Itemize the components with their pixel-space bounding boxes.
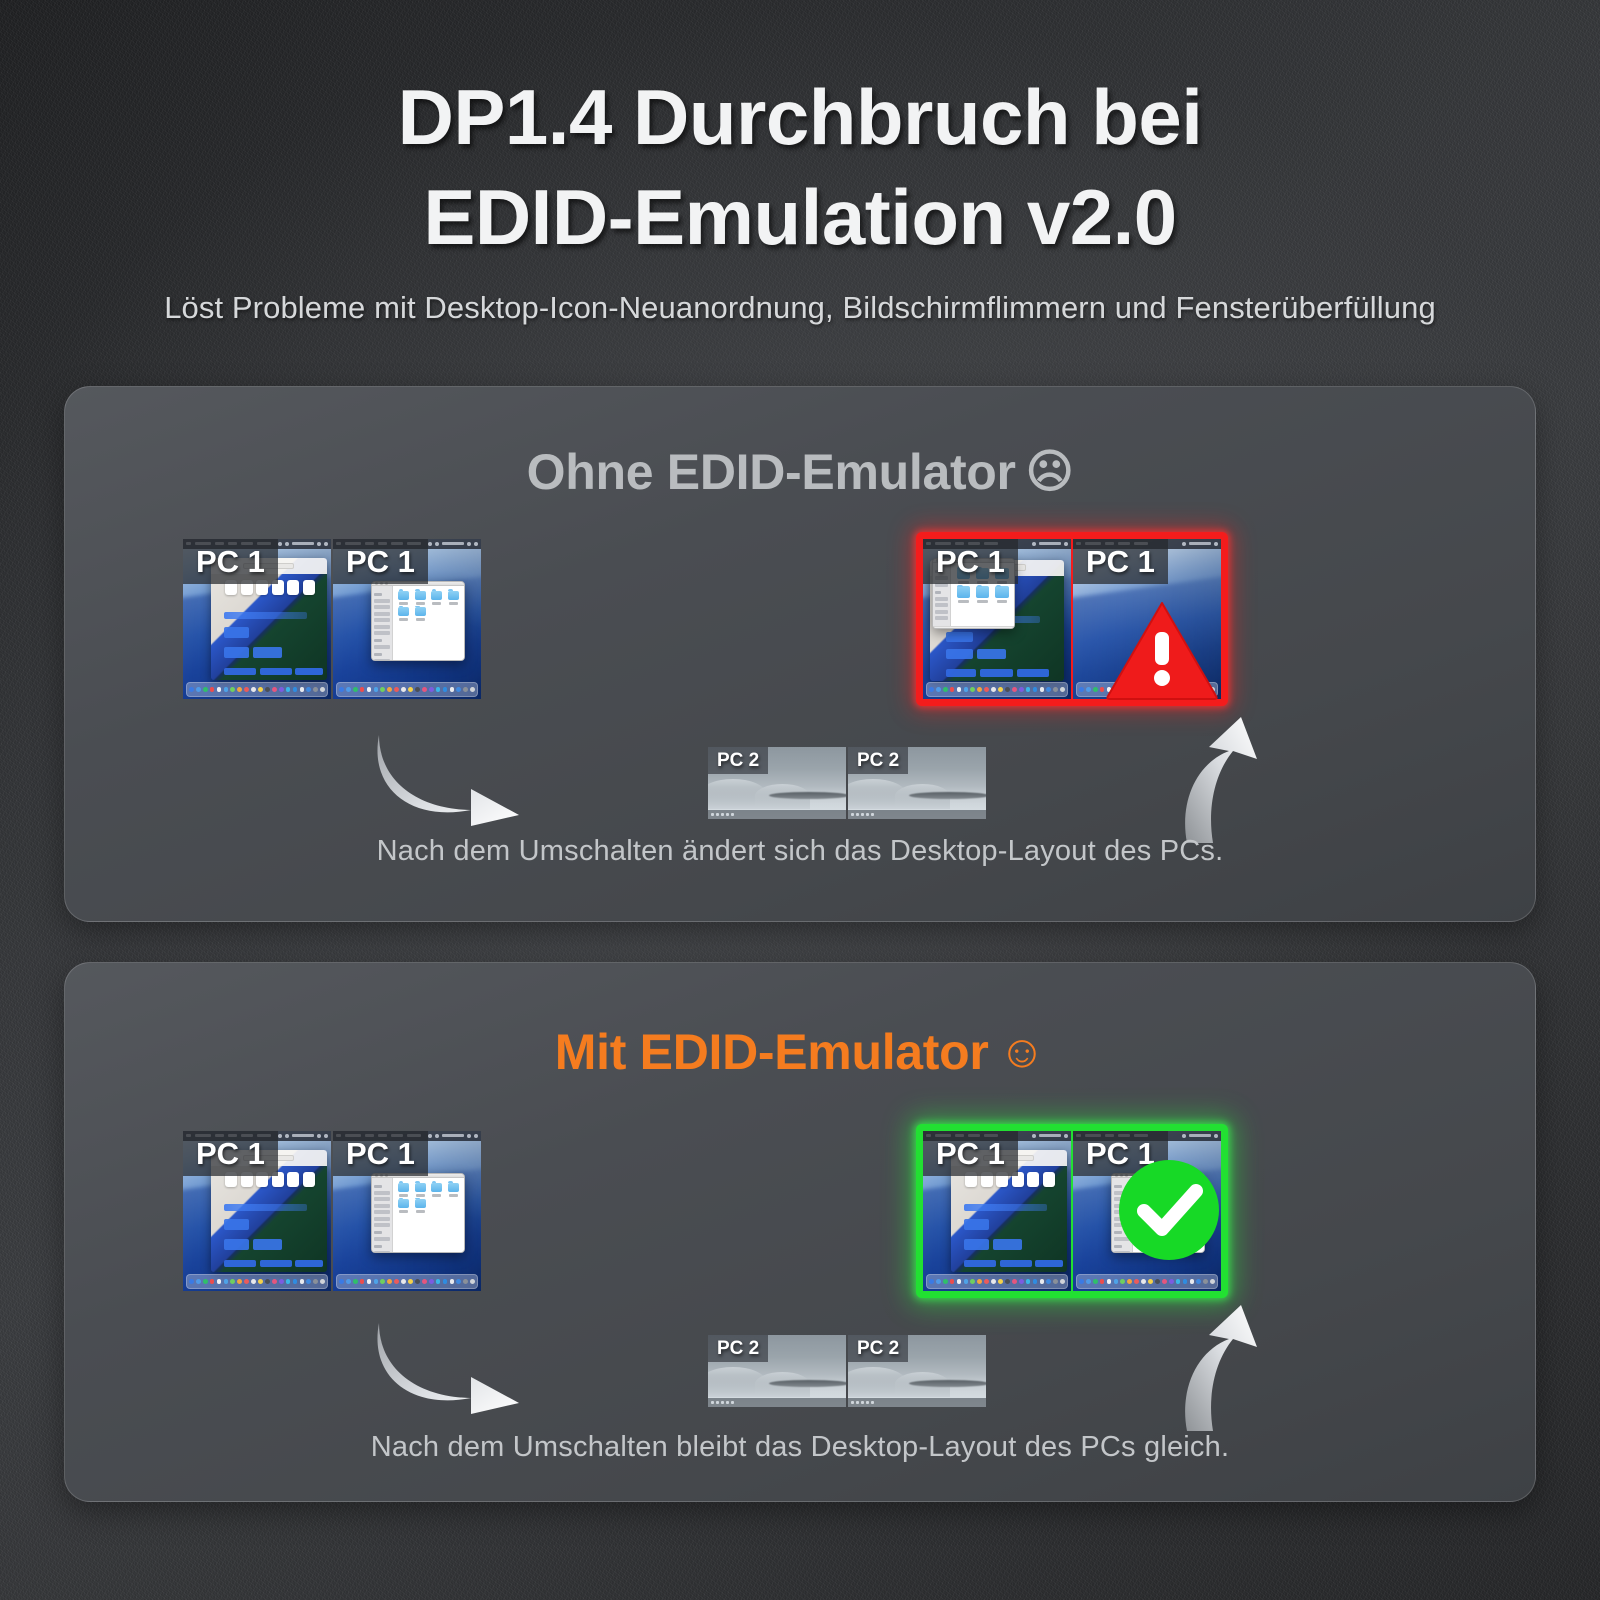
dock-icon[interactable] <box>360 1279 365 1284</box>
dock-icon[interactable] <box>210 1279 215 1284</box>
reading-list-card[interactable] <box>977 649 1006 660</box>
folder-item[interactable] <box>413 607 428 621</box>
dock-icon[interactable] <box>320 687 325 692</box>
sidebar-section-header <box>374 653 381 656</box>
dock-icon[interactable] <box>380 687 385 692</box>
dock-icon[interactable] <box>456 687 461 692</box>
monitor-screen[interactable]: PC 1 <box>333 539 481 699</box>
menubar-right <box>278 1134 328 1138</box>
windows-taskbar[interactable] <box>848 1398 986 1407</box>
dock-icon[interactable] <box>1079 687 1084 692</box>
dock-icon[interactable] <box>286 687 291 692</box>
pc-label-text: PC 1 <box>936 546 1005 577</box>
dock-icon[interactable] <box>429 687 434 692</box>
dock-icon[interactable] <box>196 1279 201 1284</box>
dock-icon[interactable] <box>1169 1279 1174 1284</box>
folder-icon <box>957 586 970 597</box>
folder-icon <box>995 586 1008 597</box>
dock-icon[interactable] <box>1019 1279 1024 1284</box>
taskbar-icon[interactable] <box>731 813 734 816</box>
finder-window[interactable] <box>371 581 464 661</box>
sidebar-item[interactable] <box>374 645 390 649</box>
footer-button[interactable] <box>260 668 292 675</box>
dock-icon[interactable] <box>1040 1279 1045 1284</box>
dock-icon[interactable] <box>977 1279 982 1284</box>
windows-taskbar[interactable] <box>848 810 986 819</box>
dock-icon[interactable] <box>998 687 1003 692</box>
dock-icon[interactable] <box>1203 1279 1208 1284</box>
folder-icon <box>415 1183 426 1192</box>
dock-icon[interactable] <box>929 1279 934 1284</box>
sidebar-item[interactable] <box>374 605 390 609</box>
dock-icon[interactable] <box>408 687 413 692</box>
sidebar-item[interactable] <box>374 1204 390 1208</box>
dock-icon[interactable] <box>456 1279 461 1284</box>
dock-icon[interactable] <box>943 1279 948 1284</box>
dock-icon[interactable] <box>1100 687 1105 692</box>
search-icon <box>467 1134 471 1138</box>
siri-suggestion-card[interactable] <box>964 1219 989 1230</box>
taskbar-icon[interactable] <box>711 1401 714 1404</box>
dock-icon[interactable] <box>950 1279 955 1284</box>
taskbar-icon[interactable] <box>866 813 869 816</box>
pc-label-text: PC 1 <box>346 1138 415 1169</box>
dock-icon[interactable] <box>210 687 215 692</box>
folder-item[interactable] <box>413 1199 428 1213</box>
sidebar-item[interactable] <box>374 1210 390 1214</box>
footer-button[interactable] <box>224 1260 256 1267</box>
macos-dock[interactable] <box>1076 1274 1218 1288</box>
folder-item[interactable] <box>430 591 445 605</box>
folder-item[interactable] <box>396 607 411 621</box>
taskbar-icon[interactable] <box>861 813 864 816</box>
sidebar-item[interactable] <box>935 597 949 601</box>
dock-icon[interactable] <box>1012 1279 1017 1284</box>
dock-icon[interactable] <box>1012 687 1017 692</box>
dock-icon[interactable] <box>244 687 249 692</box>
dock-icon[interactable] <box>217 1279 222 1284</box>
macos-dock[interactable] <box>926 682 1068 696</box>
dock-icon[interactable] <box>415 1279 420 1284</box>
dock-icon[interactable] <box>320 1279 325 1284</box>
footer-button[interactable] <box>224 668 256 675</box>
search-icon <box>317 1134 321 1138</box>
dock-icon[interactable] <box>1060 687 1065 692</box>
dock-icon[interactable] <box>203 687 208 692</box>
dock-icon[interactable] <box>346 1279 351 1284</box>
dock-icon[interactable] <box>470 687 475 692</box>
dock-icon[interactable] <box>217 687 222 692</box>
siri-icon <box>474 1134 478 1138</box>
windows-taskbar[interactable] <box>708 1398 846 1407</box>
favorite-icon[interactable] <box>303 1172 315 1187</box>
dock-icon[interactable] <box>1005 1279 1010 1284</box>
taskbar-icon[interactable] <box>721 1401 724 1404</box>
dock-icon[interactable] <box>1053 1279 1058 1284</box>
dock-icon[interactable] <box>936 1279 941 1284</box>
taskbar-icon[interactable] <box>861 1401 864 1404</box>
sidebar-item[interactable] <box>935 610 949 614</box>
siri-suggestion-card[interactable] <box>224 627 249 638</box>
dock-icon[interactable] <box>1162 1279 1167 1284</box>
sidebar-item[interactable] <box>374 1191 390 1195</box>
taskbar-icon[interactable] <box>711 813 714 816</box>
taskbar-icon[interactable] <box>871 1401 874 1404</box>
dock-icon[interactable] <box>1040 687 1045 692</box>
finder-sidebar[interactable] <box>372 1178 393 1253</box>
dock-icon[interactable] <box>984 687 989 692</box>
dock-icon[interactable] <box>353 1279 358 1284</box>
clock-label <box>1189 542 1211 545</box>
dock-icon[interactable] <box>394 1279 399 1284</box>
taskbar-icon[interactable] <box>726 1401 729 1404</box>
dock-icon[interactable] <box>998 1279 1003 1284</box>
siri-suggestion-card[interactable] <box>946 632 973 643</box>
dock-icon[interactable] <box>991 1279 996 1284</box>
dock-icon[interactable] <box>422 1279 427 1284</box>
dock-icon[interactable] <box>279 1279 284 1284</box>
dock-icon[interactable] <box>1107 1279 1112 1284</box>
dock-icon[interactable] <box>429 1279 434 1284</box>
dock-icon[interactable] <box>380 1279 385 1284</box>
pc2-thumbnail[interactable]: PC 2 <box>848 1335 986 1407</box>
curved-arrow-right-icon <box>363 727 523 827</box>
dock-icon[interactable] <box>1190 1279 1195 1284</box>
pc-label-text: PC 2 <box>857 1339 899 1358</box>
with-left-monitor-group: PC 1 <box>183 1131 481 1291</box>
dock-icon[interactable] <box>265 687 270 692</box>
clock-label <box>1189 1134 1211 1137</box>
dock-icon[interactable] <box>367 1279 372 1284</box>
dock-icon[interactable] <box>224 1279 229 1284</box>
dock-icon[interactable] <box>470 1279 475 1284</box>
sidebar-item[interactable] <box>374 1217 390 1221</box>
dock-icon[interactable] <box>300 1279 305 1284</box>
dock-icon[interactable] <box>244 1279 249 1284</box>
control-center-icon <box>285 542 289 546</box>
dock-icon[interactable] <box>1033 1279 1038 1284</box>
reading-list-card[interactable] <box>253 647 282 658</box>
folder-item[interactable] <box>446 1183 461 1197</box>
sidebar-item[interactable] <box>374 618 390 622</box>
dock-icon[interactable] <box>230 1279 235 1284</box>
monitor-screen[interactable]: PC 1 <box>333 1131 481 1291</box>
dock-icon[interactable] <box>450 687 455 692</box>
footer-button[interactable] <box>1000 1260 1032 1267</box>
dock-icon[interactable] <box>1120 1279 1125 1284</box>
sidebar-item[interactable] <box>374 625 390 629</box>
dock-icon[interactable] <box>415 687 420 692</box>
dock-icon[interactable] <box>964 687 969 692</box>
pc-label-text: PC 2 <box>857 751 899 770</box>
folder-item[interactable] <box>430 1183 445 1197</box>
dock-icon[interactable] <box>374 687 379 692</box>
check-circle-icon <box>1117 1158 1221 1262</box>
reading-list-card[interactable] <box>253 1239 282 1250</box>
wifi-icon <box>1182 1134 1186 1138</box>
dock-icon[interactable] <box>374 1279 379 1284</box>
dock-icon[interactable] <box>313 1279 318 1284</box>
dock-icon[interactable] <box>1210 1279 1215 1284</box>
dock-icon[interactable] <box>443 1279 448 1284</box>
monitor-screen[interactable]: PC 1 <box>923 539 1071 699</box>
windows-taskbar[interactable] <box>708 810 846 819</box>
favorite-icon[interactable] <box>1043 1172 1055 1187</box>
footer-button[interactable] <box>980 669 1013 676</box>
dock-icon[interactable] <box>422 687 427 692</box>
finder-file-grid[interactable] <box>393 1178 463 1253</box>
footer-button[interactable] <box>946 669 975 676</box>
favorite-icon[interactable] <box>287 580 299 595</box>
pc-label-text: PC 1 <box>936 1138 1005 1169</box>
sidebar-section-header <box>374 1245 381 1248</box>
dock-icon[interactable] <box>1053 687 1058 692</box>
sidebar-item[interactable] <box>374 1237 390 1241</box>
dock-icon[interactable] <box>1046 687 1051 692</box>
sidebar-item[interactable] <box>374 1251 390 1253</box>
monitor-screen[interactable]: PC 1 <box>183 539 331 699</box>
dock-icon[interactable] <box>1148 1279 1153 1284</box>
pc2-thumbnail[interactable]: PC 2 <box>708 747 846 819</box>
dock-icon[interactable] <box>957 1279 962 1284</box>
dock-icon[interactable] <box>306 687 311 692</box>
dock-icon[interactable] <box>1134 1279 1139 1284</box>
dock-icon[interactable] <box>346 687 351 692</box>
dock-icon[interactable] <box>1086 687 1091 692</box>
footer-button[interactable] <box>1035 1260 1063 1267</box>
macos-dock[interactable] <box>336 682 478 696</box>
sidebar-section-header <box>935 591 941 594</box>
monitor-screen[interactable]: PC 1 <box>923 1131 1071 1291</box>
clock-label <box>1039 542 1061 545</box>
taskbar-icon[interactable] <box>851 813 854 816</box>
dock-icon[interactable] <box>1183 1279 1188 1284</box>
dock-icon[interactable] <box>387 1279 392 1284</box>
panel-without-title-text: Ohne EDID-Emulator <box>527 444 1016 500</box>
dock-icon[interactable] <box>1005 687 1010 692</box>
header: DP1.4 Durchbruch bei EDID-Emulation v2.0… <box>0 68 1600 326</box>
dock-icon[interactable] <box>272 687 277 692</box>
reading-list-card[interactable] <box>993 1239 1022 1250</box>
dock-icon[interactable] <box>443 687 448 692</box>
folder-item[interactable] <box>954 586 971 602</box>
taskbar-icon[interactable] <box>871 813 874 816</box>
panel-with-caption: Nach dem Umschalten bleibt das Desktop-L… <box>65 1431 1535 1464</box>
dock-icon[interactable] <box>251 1279 256 1284</box>
dock-icon[interactable] <box>964 1279 969 1284</box>
dock-icon[interactable] <box>1127 1279 1132 1284</box>
pc-label-badge: PC 2 <box>708 1335 768 1362</box>
dock-icon[interactable] <box>258 1279 263 1284</box>
reading-list-card[interactable] <box>946 649 973 660</box>
footer-button[interactable] <box>964 1260 996 1267</box>
dock-icon[interactable] <box>300 687 305 692</box>
dock-icon[interactable] <box>1060 1279 1065 1284</box>
dock-icon[interactable] <box>293 687 298 692</box>
dock-icon[interactable] <box>943 687 948 692</box>
dock-icon[interactable] <box>189 687 194 692</box>
dock-icon[interactable] <box>339 687 344 692</box>
macos-dock[interactable] <box>186 1274 328 1288</box>
sidebar-item[interactable] <box>374 1197 390 1201</box>
favorite-icon[interactable] <box>287 1172 299 1187</box>
footer-button[interactable] <box>295 668 323 675</box>
dock-icon[interactable] <box>286 1279 291 1284</box>
folder-item[interactable] <box>993 586 1010 602</box>
dock-icon[interactable] <box>279 687 284 692</box>
dock-icon[interactable] <box>237 687 242 692</box>
dock-icon[interactable] <box>1093 1279 1098 1284</box>
sidebar-section-header <box>374 593 381 596</box>
dock-icon[interactable] <box>313 687 318 692</box>
dock-icon[interactable] <box>251 687 256 692</box>
reading-list-card[interactable] <box>964 1239 989 1250</box>
dock-icon[interactable] <box>1100 1279 1105 1284</box>
sidebar-item[interactable] <box>374 659 390 661</box>
dock-icon[interactable] <box>1155 1279 1160 1284</box>
sidebar-item[interactable] <box>374 1223 390 1227</box>
dock-icon[interactable] <box>394 687 399 692</box>
macos-dock[interactable] <box>186 682 328 696</box>
sidebar-item[interactable] <box>374 599 390 603</box>
dock-icon[interactable] <box>353 687 358 692</box>
dock-icon[interactable] <box>189 1279 194 1284</box>
dock-icon[interactable] <box>224 687 229 692</box>
reading-list-card[interactable] <box>224 1239 249 1250</box>
dock-icon[interactable] <box>1176 1279 1181 1284</box>
dock-icon[interactable] <box>950 687 955 692</box>
dock-icon[interactable] <box>1086 1279 1091 1284</box>
pc2-thumbnail[interactable]: PC 2 <box>708 1335 846 1407</box>
dock-icon[interactable] <box>929 687 934 692</box>
monitor-screen[interactable]: PC 1 <box>183 1131 331 1291</box>
folder-icon <box>448 1183 459 1192</box>
folder-item[interactable] <box>396 1183 411 1197</box>
macos-dock[interactable] <box>336 1274 478 1288</box>
sidebar-item[interactable] <box>935 603 949 607</box>
folder-icon <box>415 591 426 600</box>
finder-sidebar[interactable] <box>372 586 393 661</box>
menubar-right <box>428 542 478 546</box>
dock-icon[interactable] <box>970 1279 975 1284</box>
dock-icon[interactable] <box>230 687 235 692</box>
dock-icon[interactable] <box>387 687 392 692</box>
taskbar-icon[interactable] <box>851 1401 854 1404</box>
dock-icon[interactable] <box>436 687 441 692</box>
footer-button[interactable] <box>1017 669 1049 676</box>
finder-file-grid[interactable] <box>393 586 463 661</box>
search-icon <box>1214 542 1218 546</box>
dock-icon[interactable] <box>401 687 406 692</box>
dock-icon[interactable] <box>367 687 372 692</box>
dock-icon[interactable] <box>1046 1279 1051 1284</box>
dock-icon[interactable] <box>408 1279 413 1284</box>
dock-icon[interactable] <box>196 687 201 692</box>
wifi-icon <box>1032 1134 1036 1138</box>
siri-suggestion-card[interactable] <box>224 1219 249 1230</box>
folder-label <box>399 1194 408 1197</box>
sidebar-item[interactable] <box>374 631 390 635</box>
folder-item[interactable] <box>413 1183 428 1197</box>
dock-icon[interactable] <box>237 1279 242 1284</box>
sidebar-item[interactable] <box>935 616 949 620</box>
pc2-thumbnail[interactable]: PC 2 <box>848 747 986 819</box>
footer-button[interactable] <box>260 1260 292 1267</box>
folder-item[interactable] <box>974 586 991 602</box>
dock-icon[interactable] <box>339 1279 344 1284</box>
reading-list-card[interactable] <box>224 647 249 658</box>
pc-label-text: PC 1 <box>196 546 265 577</box>
dock-icon[interactable] <box>1019 687 1024 692</box>
dock-icon[interactable] <box>360 687 365 692</box>
taskbar-icon[interactable] <box>856 1401 859 1404</box>
dock-icon[interactable] <box>1114 1279 1119 1284</box>
folder-item[interactable] <box>396 591 411 605</box>
dock-icon[interactable] <box>265 1279 270 1284</box>
dock-icon[interactable] <box>463 687 468 692</box>
folder-label <box>449 602 458 605</box>
sidebar-section-header <box>374 1231 381 1234</box>
footer-button[interactable] <box>295 1260 323 1267</box>
favorite-icon[interactable] <box>303 580 315 595</box>
dock-icon[interactable] <box>1026 1279 1031 1284</box>
folder-item[interactable] <box>396 1199 411 1213</box>
dock-icon[interactable] <box>970 687 975 692</box>
taskbar-icon[interactable] <box>716 1401 719 1404</box>
dock-icon[interactable] <box>957 687 962 692</box>
dock-icon[interactable] <box>977 687 982 692</box>
dock-icon[interactable] <box>272 1279 277 1284</box>
taskbar-icon[interactable] <box>866 1401 869 1404</box>
dock-icon[interactable] <box>1026 687 1031 692</box>
folder-item[interactable] <box>413 591 428 605</box>
dock-icon[interactable] <box>991 687 996 692</box>
dock-icon[interactable] <box>293 1279 298 1284</box>
dock-icon[interactable] <box>450 1279 455 1284</box>
dock-icon[interactable] <box>401 1279 406 1284</box>
dock-icon[interactable] <box>984 1279 989 1284</box>
dock-icon[interactable] <box>1079 1279 1084 1284</box>
taskbar-icon[interactable] <box>721 813 724 816</box>
folder-icon <box>431 591 442 600</box>
happy-face-icon: ☺ <box>999 1025 1046 1077</box>
macos-dock[interactable] <box>926 1274 1068 1288</box>
dock-icon[interactable] <box>436 1279 441 1284</box>
folder-item[interactable] <box>446 591 461 605</box>
dock-icon[interactable] <box>463 1279 468 1284</box>
taskbar-icon[interactable] <box>716 813 719 816</box>
taskbar-icon[interactable] <box>726 813 729 816</box>
dock-icon[interactable] <box>306 1279 311 1284</box>
taskbar-icon[interactable] <box>856 813 859 816</box>
dock-icon[interactable] <box>1093 687 1098 692</box>
sidebar-item[interactable] <box>374 612 390 616</box>
dock-icon[interactable] <box>936 687 941 692</box>
dock-icon[interactable] <box>203 1279 208 1284</box>
favorite-icon[interactable] <box>1027 1172 1039 1187</box>
pc-label-text: PC 1 <box>346 546 415 577</box>
finder-window[interactable] <box>371 1173 464 1253</box>
folder-label <box>958 600 969 603</box>
dock-icon[interactable] <box>258 687 263 692</box>
dock-icon[interactable] <box>1196 1279 1201 1284</box>
dock-icon[interactable] <box>1141 1279 1146 1284</box>
control-center-icon <box>435 542 439 546</box>
taskbar-icon[interactable] <box>731 1401 734 1404</box>
pc-label-badge: PC 1 <box>923 539 1018 584</box>
dock-icon[interactable] <box>1033 687 1038 692</box>
privacy-report-bar <box>224 612 307 619</box>
